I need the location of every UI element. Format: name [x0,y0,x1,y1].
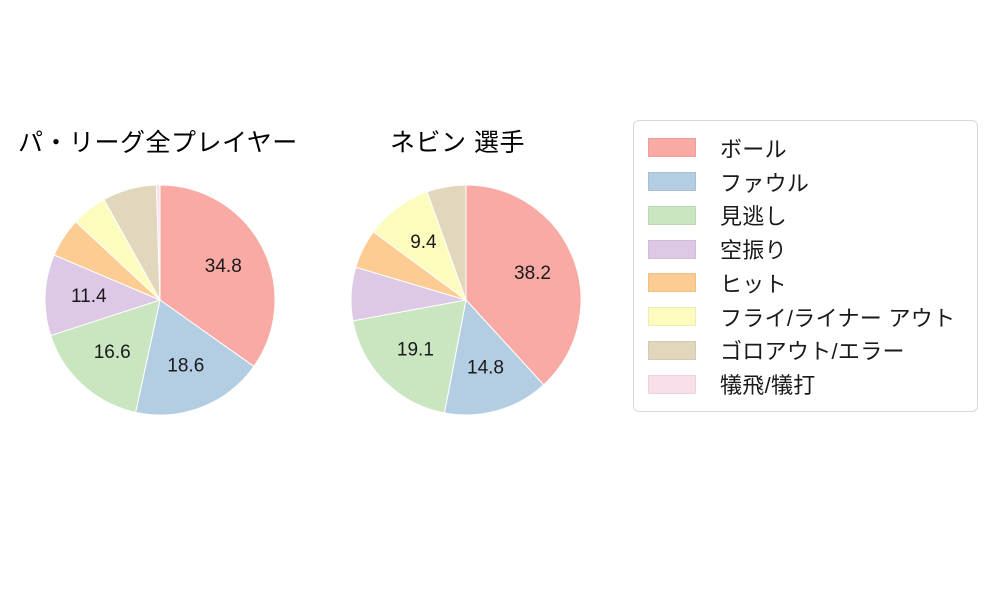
legend-item-label: ファウル [720,166,809,198]
pie-chart-title-player: ネビン 選手 [390,123,525,159]
pie-slice-value-label: 11.4 [71,286,107,307]
pie-chart-league: 34.818.616.611.4 [30,170,290,430]
legend-item-label: ボール [720,132,787,164]
pie-svg-league: 34.818.616.611.4 [30,170,290,430]
chart-legend: ボールファウル見逃し空振りヒットフライ/ライナー アウトゴロアウト/エラー犠飛/… [633,120,978,412]
pie-slice-value-label: 9.4 [410,232,437,253]
legend-item[interactable]: フライ/ライナー アウト [634,300,977,334]
legend-item[interactable]: ボール [634,131,977,165]
legend-item-label: 見逃し [720,199,787,231]
legend-swatch-icon [648,375,696,394]
legend-item-label: フライ/ライナー アウト [720,301,955,333]
pie-slice-value-label: 18.6 [167,356,204,377]
legend-item-label: ゴロアウト/エラー [720,334,905,366]
legend-item[interactable]: ゴロアウト/エラー [634,334,977,368]
legend-item[interactable]: ファウル [634,165,977,199]
legend-swatch-icon [648,273,696,292]
pie-slice-value-label: 16.6 [94,342,131,363]
legend-swatch-icon [648,307,696,326]
pie-slice-value-label: 34.8 [205,256,242,277]
legend-swatch-icon [648,240,696,259]
legend-item[interactable]: 空振り [634,232,977,266]
pie-slice-value-label: 14.8 [467,358,504,379]
legend-swatch-icon [648,138,696,157]
pie-svg-player: 38.214.819.19.4 [336,170,596,430]
legend-item-label: ヒット [720,267,787,299]
legend-swatch-icon [648,206,696,225]
legend-item[interactable]: ヒット [634,266,977,300]
legend-list: ボールファウル見逃し空振りヒットフライ/ライナー アウトゴロアウト/エラー犠飛/… [634,131,977,401]
legend-item[interactable]: 犠飛/犠打 [634,367,977,401]
pie-chart-title-league: パ・リーグ全プレイヤー [18,123,298,159]
legend-swatch-icon [648,172,696,191]
legend-swatch-icon [648,341,696,360]
pie-slice-value-label: 38.2 [514,263,551,284]
legend-item-label: 空振り [720,233,787,265]
pie-slices-player [351,185,581,415]
chart-canvas: パ・リーグ全プレイヤー 34.818.616.611.4 ネビン 選手 38.2… [0,0,1000,600]
pie-slice-value-label: 19.1 [397,339,434,360]
legend-item-label: 犠飛/犠打 [720,368,816,400]
legend-item[interactable]: 見逃し [634,199,977,233]
pie-chart-player: 38.214.819.19.4 [336,170,596,430]
